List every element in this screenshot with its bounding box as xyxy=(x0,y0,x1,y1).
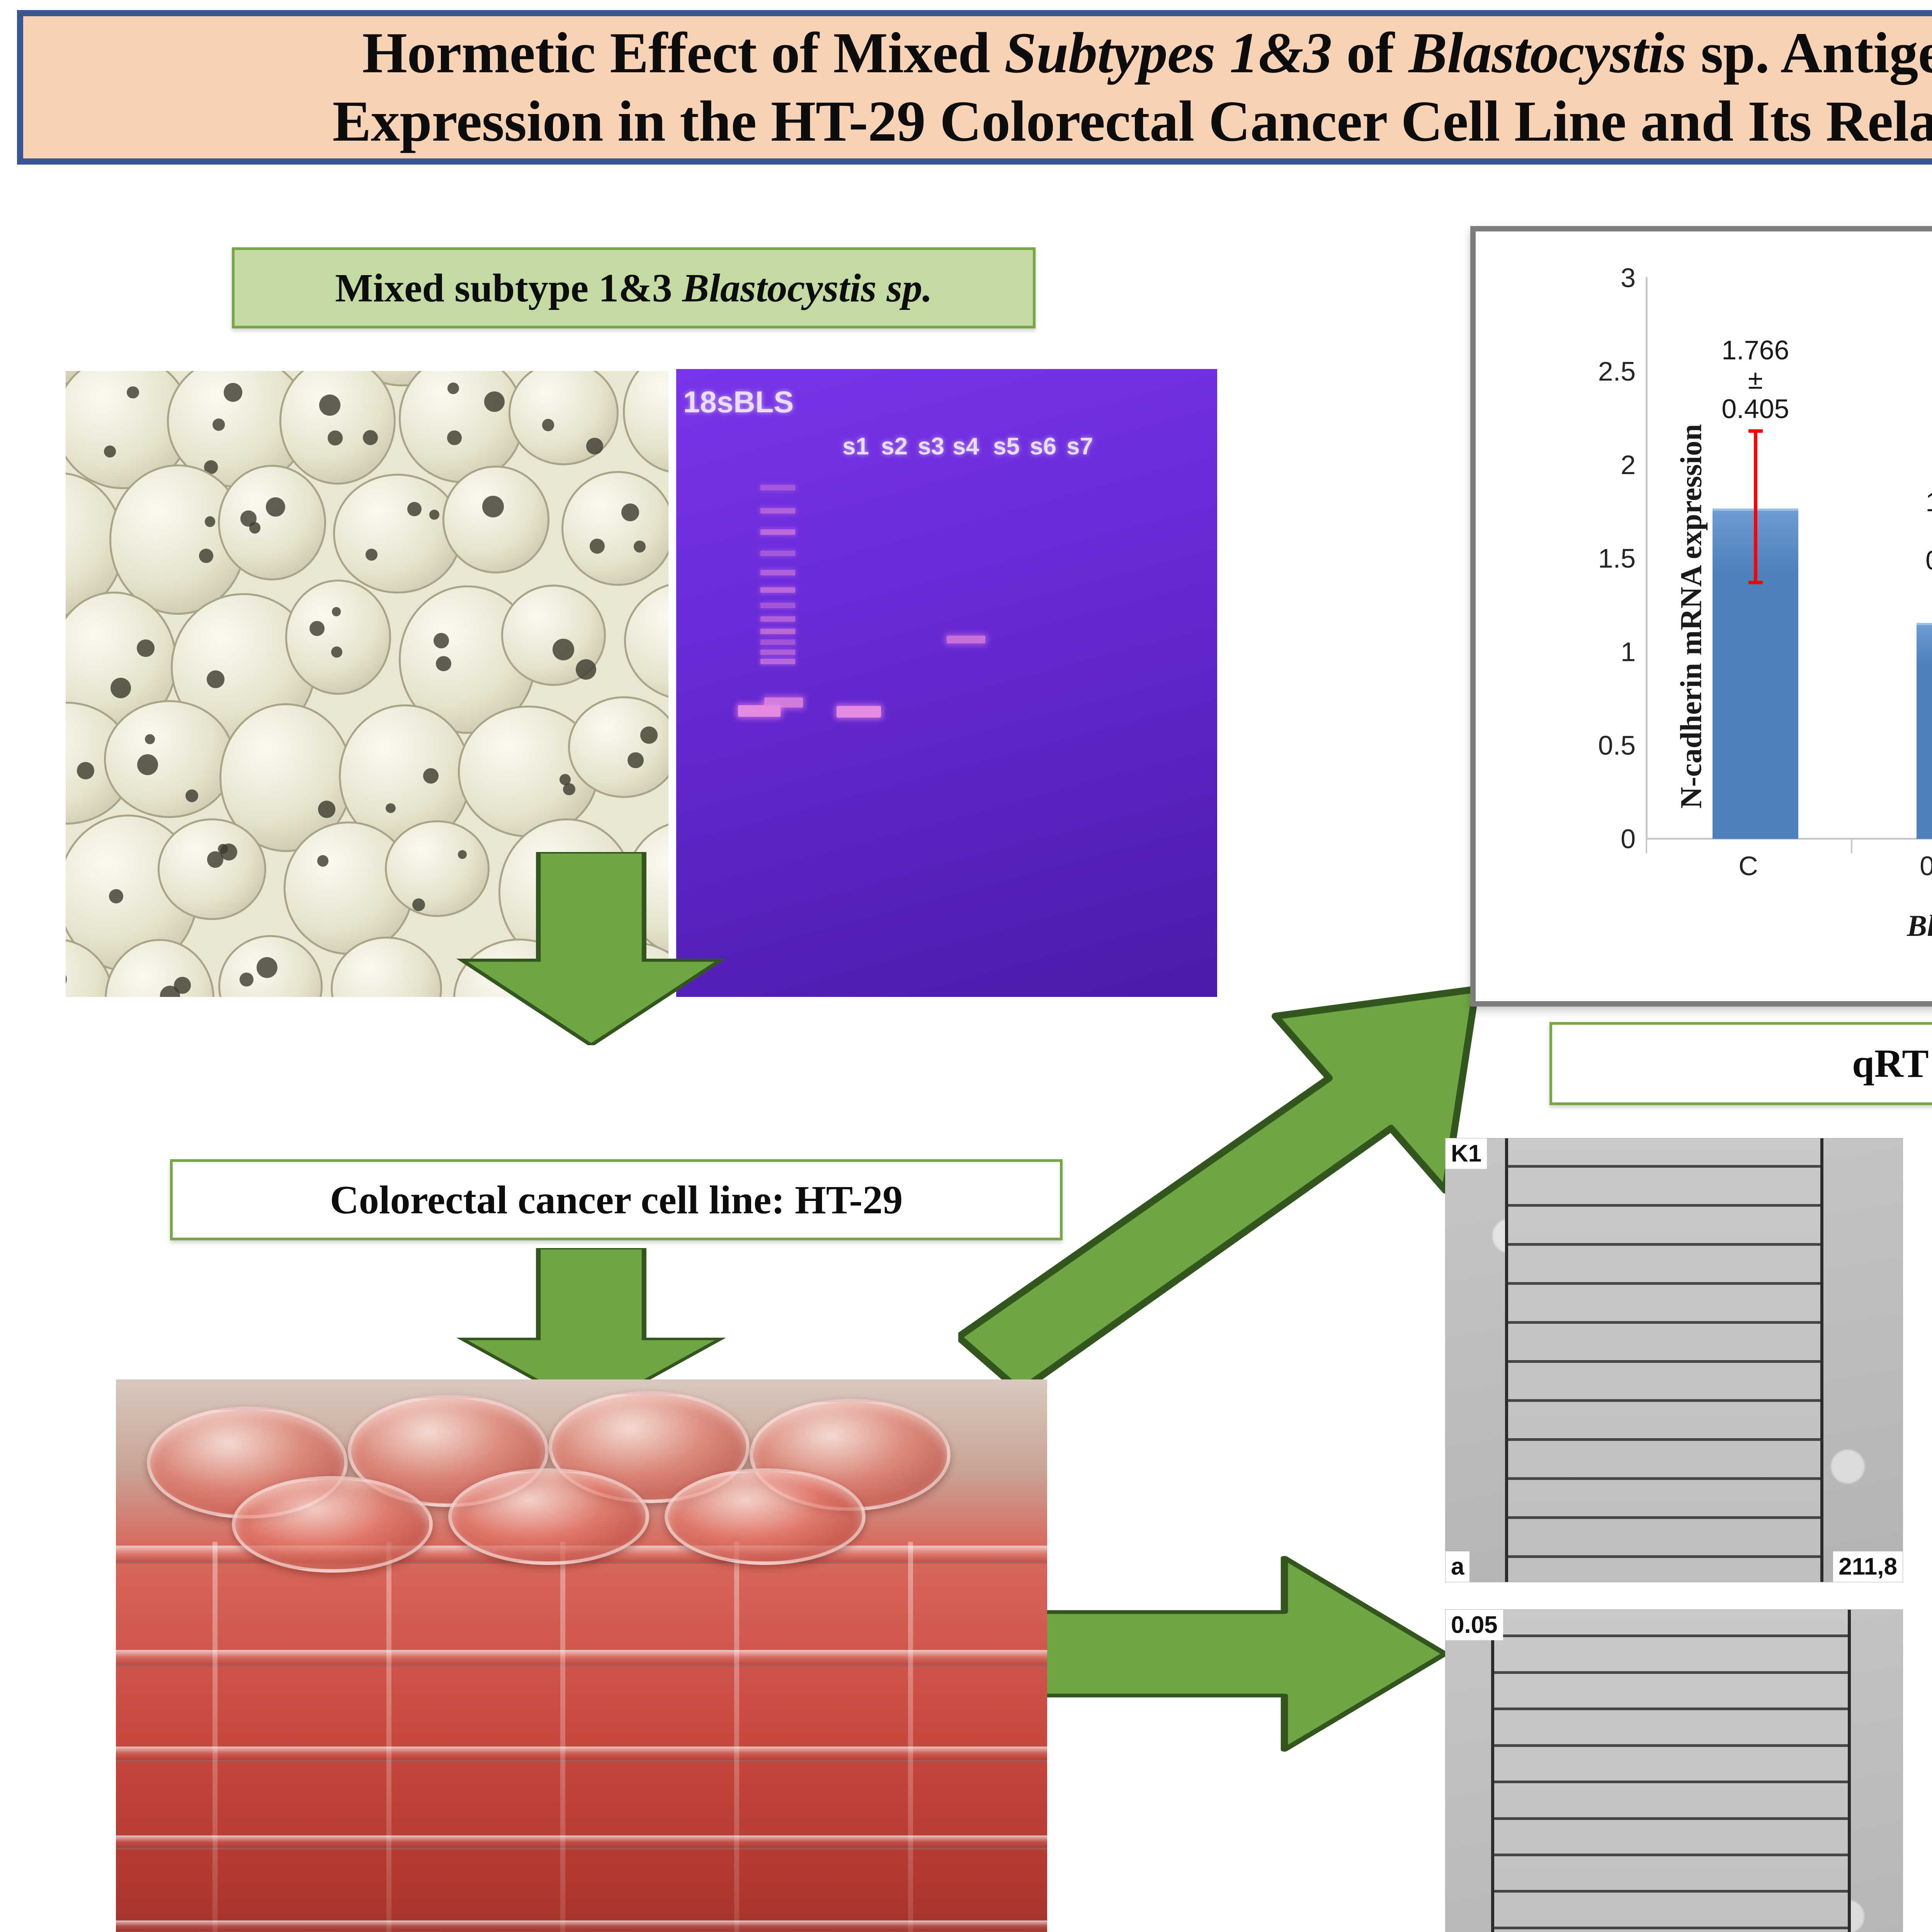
chart-x-axis-title: Blastocystis sp. antigen concentration (… xyxy=(1476,908,1932,943)
blastocystis-nucleus xyxy=(386,803,396,813)
chart-y-tick-label: 3 xyxy=(1621,262,1636,293)
chart-y-ticks: 00.511.522.53 xyxy=(1572,278,1646,839)
blastocystis-nucleus xyxy=(207,670,224,688)
chart-data-label-C: 1.766±0.405 xyxy=(1721,336,1789,423)
blastocystis-nucleus xyxy=(257,957,277,978)
scratch-concentration-label: K1 xyxy=(1446,1138,1487,1169)
scratch-measurement-line xyxy=(1505,1282,1820,1285)
blastocystis-nucleus xyxy=(447,430,462,445)
gel-lane-label-s3: s3 xyxy=(918,433,944,460)
blastocystis-nucleus xyxy=(331,646,342,658)
scratch-right-edge xyxy=(1820,1138,1823,1582)
blastocystis-nucleus xyxy=(590,539,605,554)
chart-y-tick-label: 2 xyxy=(1621,449,1636,480)
chart-bar-0.005 xyxy=(1917,623,1932,839)
gel-ladder-band xyxy=(760,551,795,556)
chart-x-tickmark xyxy=(1646,839,1647,853)
chart-data-label-part: 1.766 xyxy=(1721,336,1789,365)
blastocystis-nucleus xyxy=(319,395,340,416)
blastocystis-nucleus xyxy=(366,549,378,561)
blastocystis-cell xyxy=(218,465,327,581)
gel-lane-label-s6: s6 xyxy=(1030,433,1056,460)
scratch-gap-measurement: 211,8 xyxy=(1833,1551,1903,1582)
blastocystis-nucleus xyxy=(199,549,213,563)
scratch-concentration-label: 0.05 xyxy=(1446,1610,1503,1640)
chart-error-cap xyxy=(1748,429,1763,433)
chart-x-tickmark xyxy=(1851,839,1852,853)
gel-lane-label-s7: s7 xyxy=(1066,433,1093,460)
scratch-assay-panel-a: K1a211,8 xyxy=(1445,1138,1903,1582)
chart-data-label-part: ± xyxy=(1925,517,1932,546)
blastocystis-nucleus xyxy=(484,391,505,412)
blastocystis-nucleus xyxy=(104,446,116,457)
gel-ladder-band xyxy=(760,529,795,535)
chart-data-label-part: 1.156 xyxy=(1925,488,1932,517)
blastocystis-nucleus xyxy=(542,419,554,431)
blastocystis-nucleus xyxy=(332,607,341,616)
blastocystis-cell xyxy=(442,466,549,573)
blastocystis-cell xyxy=(285,580,391,695)
scratch-measurement-line xyxy=(1505,1399,1820,1402)
scratch-measurement-line xyxy=(1505,1477,1820,1480)
scratch-measurement-line xyxy=(1491,1708,1848,1710)
blastocystis-nucleus xyxy=(586,438,603,455)
gel-lane-label-s1: s1 xyxy=(842,433,869,460)
qrt-pcr-bar-chart: N-cadherin mRNA expression 00.511.522.53… xyxy=(1470,226,1932,1007)
blastocystis-nucleus xyxy=(628,752,644,769)
page-title: Hormetic Effect of Mixed Subtypes 1&3 of… xyxy=(332,19,1932,156)
chart-x-tick-labels: C0.0050.010.050.10.5 xyxy=(1646,850,1932,885)
plate-shelf xyxy=(116,1835,1047,1850)
blastocystis-cell xyxy=(623,371,668,474)
cell-culture-plate-photo xyxy=(116,1379,1047,1932)
scratch-measurement-line xyxy=(1505,1555,1820,1558)
label-mixed-subtype-text: Mixed subtype 1&3 Blastocystis sp. xyxy=(335,265,932,311)
blastocystis-nucleus xyxy=(640,726,658,744)
chart-data-label-part: 0.405 xyxy=(1721,395,1789,424)
gel-band xyxy=(947,636,985,643)
scratch-measurement-line xyxy=(1505,1204,1820,1207)
scratch-measurement-line xyxy=(1491,1781,1848,1783)
scratch-right-edge xyxy=(1848,1610,1851,1932)
gel-ladder-band xyxy=(760,650,795,655)
chart-data-label-part: 0.204 xyxy=(1925,546,1932,575)
scratch-panel-letter: a xyxy=(1446,1551,1469,1582)
chart-data-label-0.005: 1.156±0.204 xyxy=(1925,488,1932,575)
culture-plate-well xyxy=(232,1476,433,1573)
blastocystis-nucleus xyxy=(224,383,242,401)
blastocystis-cell xyxy=(158,818,266,920)
scratch-gap xyxy=(1491,1610,1848,1932)
gel-ladder-band xyxy=(760,616,795,622)
blastocystis-nucleus xyxy=(482,496,504,517)
plate-rib xyxy=(908,1542,913,1932)
blastocystis-nucleus xyxy=(77,762,94,779)
blastocystis-nucleus xyxy=(436,656,451,671)
blastocystis-nucleus xyxy=(137,754,158,775)
blastocystis-nucleus xyxy=(240,973,253,986)
scratch-measurement-line xyxy=(1491,1671,1848,1674)
label-cell-line: Colorectal cancer cell line: HT-29 xyxy=(170,1159,1063,1240)
arrow-right-to-scratch-assay xyxy=(1043,1549,1445,1758)
gel-band xyxy=(764,697,803,707)
blastocystis-nucleus xyxy=(137,639,154,657)
chart-y-tick-label: 0 xyxy=(1621,823,1636,854)
scratch-measurement-line xyxy=(1505,1438,1820,1441)
plate-shelf xyxy=(116,1920,1047,1932)
blastocystis-nucleus xyxy=(328,430,343,446)
scratch-measurement-line xyxy=(1491,1854,1848,1856)
scratch-measurement-line xyxy=(1491,1890,1848,1893)
chart-y-tick-label: 2.5 xyxy=(1598,356,1636,387)
plate-shelf xyxy=(116,1650,1047,1667)
blastocystis-nucleus xyxy=(207,851,223,867)
blastocystis-nucleus xyxy=(429,510,439,520)
blastocystis-nucleus xyxy=(553,639,574,660)
blastocystis-nucleus xyxy=(249,522,260,533)
graphical-abstract: Hormetic Effect of Mixed Subtypes 1&3 of… xyxy=(0,0,1932,1932)
blastocystis-nucleus xyxy=(576,659,596,680)
plate-rib xyxy=(560,1542,565,1932)
plate-rib xyxy=(213,1542,218,1932)
blastocystis-nucleus xyxy=(560,774,571,785)
scratch-measurement-line xyxy=(1491,1634,1848,1637)
gel-lane-label-s2: s2 xyxy=(881,433,908,460)
chart-plot-area: 1.766±0.4051.156±0.2040.936±0.1751.13±0.… xyxy=(1653,278,1932,839)
gel-lane-label-s4: s4 xyxy=(952,433,979,460)
plate-rib xyxy=(386,1542,391,1932)
chart-error-bar xyxy=(1754,433,1757,584)
gel-ladder-band xyxy=(760,659,795,664)
gel-ladder-band xyxy=(760,508,795,514)
blastocystis-nucleus xyxy=(621,503,639,521)
blastocystis-cell xyxy=(333,474,462,594)
blastocystis-nucleus xyxy=(205,516,215,527)
gel-ladder-band xyxy=(760,570,795,575)
blastocystis-nucleus xyxy=(434,633,449,648)
chart-data-label-part: ± xyxy=(1721,365,1789,395)
gel-marker-label: 18sBLS xyxy=(683,384,794,420)
chart-error-cap xyxy=(1748,581,1763,584)
gel-lane-label-s5: s5 xyxy=(993,433,1020,460)
chart-y-axis-line xyxy=(1646,277,1648,840)
blastocystis-nucleus xyxy=(423,768,439,784)
scratch-measurement-line xyxy=(1491,1744,1848,1747)
gel-band xyxy=(837,706,881,718)
chart-y-tick-label: 1 xyxy=(1621,636,1636,667)
blastocystis-nucleus xyxy=(145,734,155,744)
gel-ladder-band xyxy=(760,639,795,645)
gel-ladder-band xyxy=(760,485,795,490)
blastocystis-nucleus xyxy=(266,497,285,517)
scratch-measurement-line xyxy=(1491,1817,1848,1820)
scratch-measurement-line xyxy=(1491,1927,1848,1929)
title-line-1: Hormetic Effect of Mixed Subtypes 1&3 of… xyxy=(362,21,1932,85)
title-banner: Hormetic Effect of Mixed Subtypes 1&3 of… xyxy=(17,10,1932,165)
chart-y-tick-label: 1.5 xyxy=(1598,543,1636,574)
plate-shelf xyxy=(116,1747,1047,1762)
scratch-measurement-line xyxy=(1505,1516,1820,1519)
gel-ladder-band xyxy=(760,603,795,608)
scratch-measurement-line xyxy=(1505,1360,1820,1363)
scratch-left-edge xyxy=(1491,1610,1494,1932)
blastocystis-nucleus xyxy=(447,383,459,394)
gel-ladder-band xyxy=(760,629,795,634)
blastocystis-nucleus xyxy=(363,430,378,445)
scratch-measurement-line xyxy=(1505,1165,1820,1168)
gel-ladder-band xyxy=(760,587,795,593)
blastocystis-nucleus xyxy=(111,678,131,698)
scratch-measurement-line xyxy=(1505,1243,1820,1246)
plate-rib xyxy=(734,1542,739,1932)
blastocystis-cell xyxy=(509,371,619,465)
title-line-2: Expression in the HT-29 Colorectal Cance… xyxy=(332,89,1932,153)
culture-plate-well xyxy=(665,1468,866,1565)
blastocystis-nucleus xyxy=(127,386,139,399)
blastocystis-cell xyxy=(624,581,668,701)
blastocystis-cell xyxy=(104,700,235,818)
scratch-measurement-line xyxy=(1505,1321,1820,1324)
blastocystis-cell xyxy=(279,371,396,485)
chart-x-tick-label-0.005: 0.005 xyxy=(1920,850,1932,881)
scratch-assay-panel-d: 0.05d279,7 xyxy=(1445,1609,1903,1932)
culture-plate-well xyxy=(448,1468,649,1565)
blastocystis-nucleus xyxy=(634,541,646,553)
blastocystis-cell xyxy=(561,471,668,586)
chart-x-tick-label-C: C xyxy=(1738,850,1758,881)
label-qrt-pcr: qRT PCR: mRNA N-cadherin expression xyxy=(1549,1022,1932,1105)
arrow-diagonal-to-chart xyxy=(958,981,1522,1430)
blastocystis-nucleus xyxy=(407,502,422,516)
blastocystis-nucleus xyxy=(213,418,225,431)
chart-y-tick-label: 0.5 xyxy=(1598,730,1636,761)
gel-electrophoresis-image: 18sBLS s1s2s3s4s5s6s7 xyxy=(676,369,1217,997)
label-mixed-subtype: Mixed subtype 1&3 Blastocystis sp. xyxy=(232,247,1036,328)
arrow-down-to-cell-line xyxy=(444,852,738,1045)
